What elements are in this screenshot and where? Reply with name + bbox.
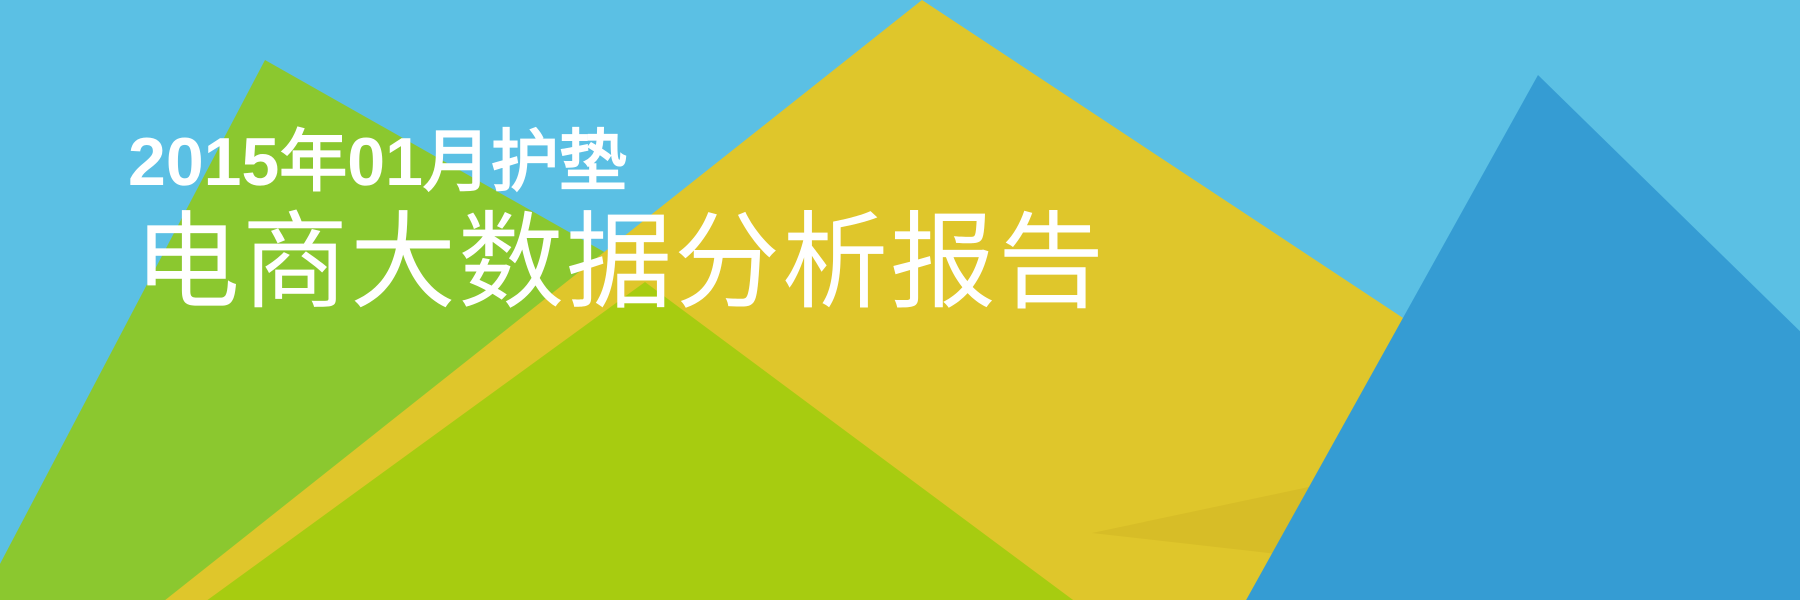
title-slide: 2015年01月护垫 电商大数据分析报告 — [0, 0, 1800, 600]
report-title-line: 电商大数据分析报告 — [128, 210, 1106, 316]
title-block: 2015年01月护垫 电商大数据分析报告 — [128, 128, 1106, 316]
report-subject-line: 2015年01月护垫 — [128, 128, 1106, 196]
